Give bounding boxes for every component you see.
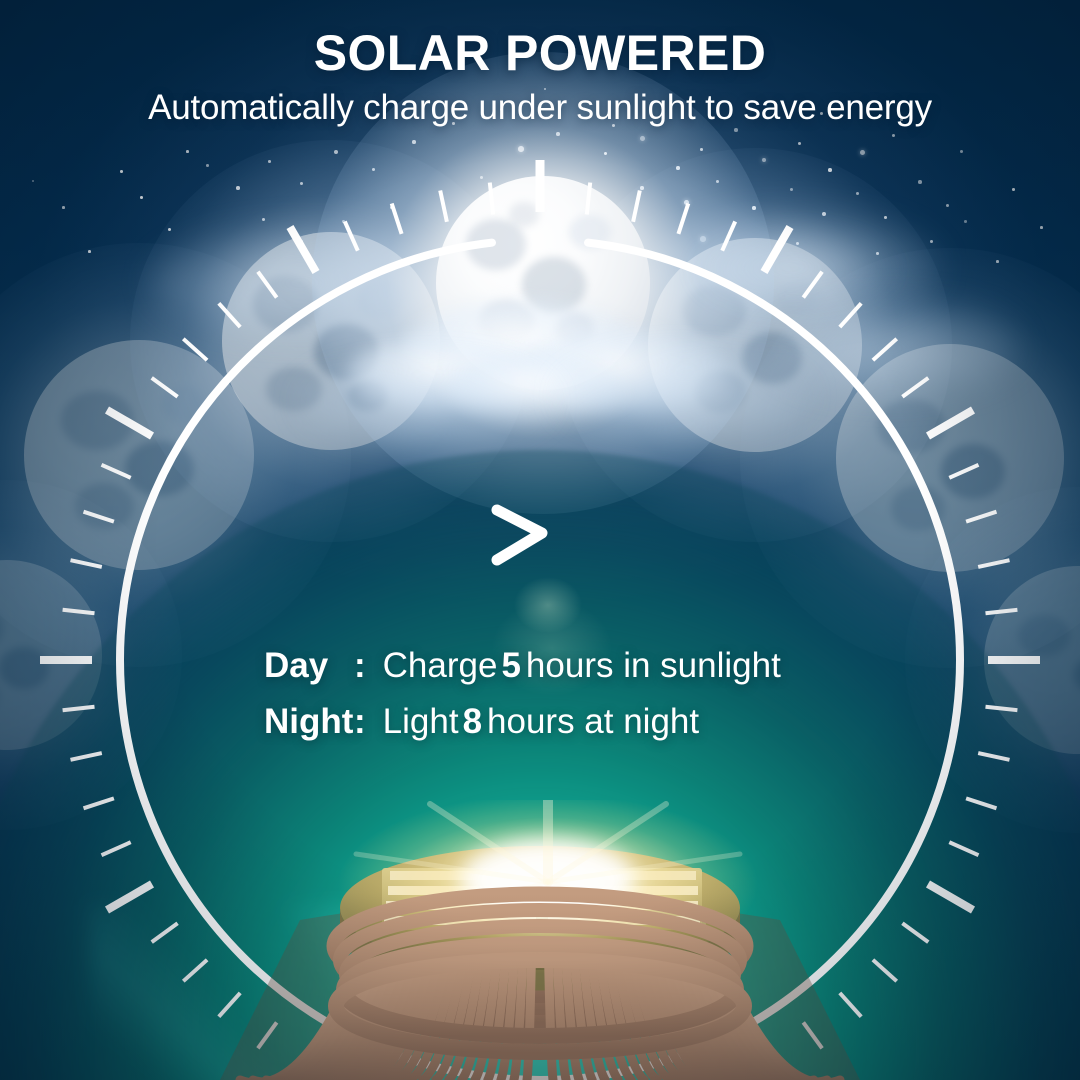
spec-number-day: 5 — [501, 646, 520, 686]
solar-lantern-infographic: SOLAR POWERED Automatically charge under… — [0, 0, 1080, 1080]
spec-lead-night: Light — [383, 702, 459, 742]
page-title: SOLAR POWERED — [0, 24, 1080, 82]
spec-trail-day: hours in sunlight — [526, 646, 781, 686]
spec-label-night: Night — [264, 702, 350, 742]
spec-label-day: Day — [264, 646, 350, 686]
spec-colon-day: : — [354, 646, 366, 686]
page-subtitle: Automatically charge under sunlight to s… — [0, 88, 1080, 128]
spec-colon-night: : — [354, 702, 366, 742]
spec-number-night: 8 — [463, 702, 482, 742]
vignette — [0, 0, 1080, 1080]
spec-row-night: Night : Light 8 hours at night — [264, 702, 884, 742]
spec-row-day: Day : Charge 5 hours in sunlight — [264, 646, 884, 686]
spec-list: Day : Charge 5 hours in sunlight Night :… — [264, 646, 884, 758]
spec-trail-night: hours at night — [487, 702, 699, 742]
spec-lead-day: Charge — [383, 646, 498, 686]
